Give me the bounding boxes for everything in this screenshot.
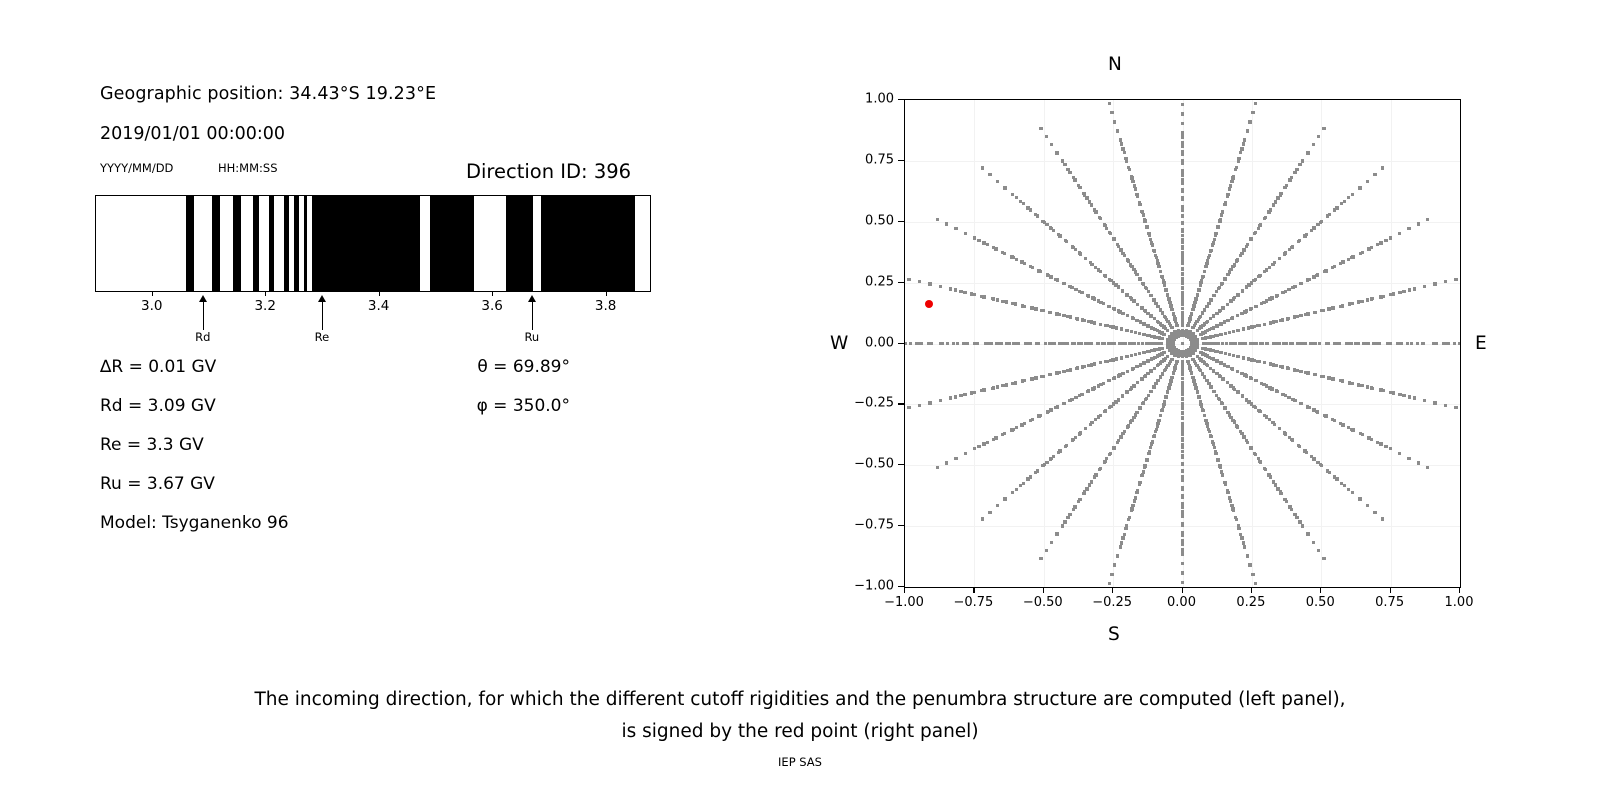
direction-point	[1212, 442, 1215, 445]
direction-point	[1247, 400, 1250, 403]
direction-point	[1181, 222, 1184, 225]
x-axis-tick-label: 0.00	[1167, 595, 1196, 610]
direction-point	[1275, 389, 1278, 392]
direction-point	[1181, 552, 1184, 555]
left-panel: Geographic position: 34.43°S 19.23°E 201…	[0, 0, 760, 660]
direction-point	[1153, 367, 1156, 370]
direction-point	[1188, 353, 1191, 356]
direction-point	[1164, 395, 1167, 398]
direction-point	[1290, 508, 1293, 511]
direction-point	[1264, 468, 1267, 471]
x-axis-tick	[1459, 587, 1460, 593]
penumbra-gap	[420, 196, 430, 291]
direction-point	[1181, 214, 1184, 217]
direction-point	[1251, 573, 1254, 576]
direction-point	[1181, 571, 1184, 574]
x-axis-tick	[1390, 587, 1391, 593]
direction-point	[1392, 292, 1395, 295]
direction-point	[1046, 273, 1049, 276]
direction-point	[1130, 419, 1133, 422]
direction-point	[1148, 450, 1151, 453]
direction-point	[1150, 442, 1153, 445]
direction-point	[991, 387, 994, 390]
direction-point	[1138, 406, 1141, 409]
horizon-point	[988, 342, 991, 345]
direction-point	[1124, 157, 1127, 160]
direction-point	[1262, 301, 1265, 304]
x-axis-tick	[1182, 587, 1183, 593]
direction-point	[1120, 327, 1123, 330]
direction-point	[1278, 257, 1281, 260]
direction-point	[1070, 398, 1073, 401]
direction-point	[1320, 464, 1323, 467]
direction-point	[1433, 401, 1436, 404]
penumbra-band	[212, 196, 220, 291]
direction-point	[1361, 300, 1364, 303]
y-axis-tick-label: −1.00	[854, 579, 894, 594]
direction-point	[1240, 252, 1243, 255]
param-re: Re = 3.3 GV	[100, 435, 204, 455]
direction-point	[1126, 370, 1129, 373]
direction-point	[1109, 279, 1112, 282]
direction-point	[1130, 265, 1133, 268]
direction-point	[963, 393, 966, 396]
horizon-point	[1060, 342, 1063, 345]
direction-point	[1021, 304, 1024, 307]
direction-point	[1181, 411, 1184, 414]
param-phi: φ = 350.0°	[477, 396, 570, 416]
direction-point	[1417, 222, 1420, 225]
direction-point	[1407, 227, 1410, 230]
direction-point	[1110, 111, 1113, 114]
direction-point	[1361, 251, 1364, 254]
rigidity-tick	[492, 292, 493, 296]
rigidity-marker-label: Ru	[524, 330, 539, 344]
direction-point	[996, 504, 999, 507]
direction-point	[1156, 320, 1159, 323]
direction-point	[1181, 424, 1184, 427]
direction-point	[1098, 468, 1101, 471]
direction-point	[928, 401, 931, 404]
direction-point	[1146, 359, 1149, 362]
direction-point	[1350, 302, 1353, 305]
direction-point	[1029, 342, 1032, 345]
direction-point	[1030, 377, 1033, 380]
y-axis-tick	[898, 525, 904, 526]
direction-point	[1205, 422, 1208, 425]
direction-point	[1108, 379, 1111, 382]
direction-point	[1103, 460, 1106, 463]
direction-point	[1197, 395, 1200, 398]
direction-point	[1276, 196, 1279, 199]
direction-point	[1041, 220, 1044, 223]
direction-point	[1248, 120, 1251, 123]
rigidity-tick	[265, 292, 266, 296]
direction-point	[1181, 431, 1184, 434]
compass-label-west: W	[830, 333, 848, 354]
penumbra-band	[233, 196, 241, 291]
direction-point	[1299, 402, 1302, 405]
direction-point	[1082, 192, 1085, 195]
direction-point	[1291, 245, 1294, 248]
direction-point	[1185, 355, 1188, 358]
direction-point	[1291, 398, 1294, 401]
direction-point	[1312, 226, 1315, 229]
direction-point	[1108, 582, 1111, 585]
direction-point	[970, 292, 973, 295]
direction-point	[945, 222, 948, 225]
direction-point	[1114, 400, 1117, 403]
direction-point	[1121, 312, 1124, 315]
direction-point	[1015, 258, 1018, 261]
direction-point	[1203, 270, 1206, 273]
x-axis-tick-label: −1.00	[884, 595, 924, 610]
horizon-point	[1374, 342, 1377, 345]
direction-point	[1161, 275, 1164, 278]
direction-point	[1243, 310, 1246, 313]
direction-point	[1146, 324, 1149, 327]
y-axis-tick-label: −0.50	[854, 457, 894, 472]
direction-point	[1408, 288, 1411, 291]
direction-point	[1133, 184, 1136, 187]
direction-point	[973, 293, 976, 296]
direction-point	[919, 342, 922, 345]
direction-point	[1229, 500, 1232, 503]
direction-point	[1181, 286, 1184, 289]
direction-point	[1343, 484, 1346, 487]
direction-point	[1381, 517, 1384, 520]
direction-point	[1136, 303, 1139, 306]
direction-point	[1298, 239, 1301, 242]
direction-point	[1220, 282, 1223, 285]
direction-point	[1108, 102, 1111, 105]
direction-point	[1127, 166, 1130, 169]
horizon-point	[1229, 342, 1232, 345]
direction-point	[1210, 298, 1213, 301]
direction-point	[1252, 405, 1255, 408]
direction-point	[1389, 236, 1392, 239]
direction-point	[981, 517, 984, 520]
direction-point	[1256, 360, 1259, 363]
direction-point	[1301, 159, 1304, 162]
direction-point	[1392, 391, 1395, 394]
direction-point	[1020, 424, 1023, 427]
direction-point	[1177, 355, 1180, 358]
direction-point	[1291, 286, 1294, 289]
direction-point	[1034, 376, 1037, 379]
horizon-point	[1241, 342, 1244, 345]
direction-point	[1118, 310, 1121, 313]
direction-point	[1156, 422, 1159, 425]
direction-point	[1159, 270, 1162, 273]
direction-point	[1145, 397, 1148, 400]
direction-point	[1342, 260, 1345, 263]
horizon-point	[1181, 342, 1184, 345]
direction-point	[1298, 163, 1301, 166]
direction-point	[1264, 216, 1267, 219]
direction-point	[1232, 509, 1235, 512]
direction-point	[1199, 403, 1202, 406]
direction-point	[1309, 342, 1312, 345]
direction-point	[1333, 265, 1336, 268]
direction-point	[1423, 399, 1426, 402]
direction-point	[1011, 302, 1014, 305]
direction-point	[1149, 294, 1152, 297]
direction-point	[1257, 409, 1260, 412]
direction-point	[1298, 445, 1301, 448]
direction-point	[1252, 279, 1255, 282]
direction-point	[1130, 386, 1133, 389]
direction-point	[1078, 290, 1081, 293]
penumbra-band	[294, 196, 299, 291]
horizon-point	[1289, 342, 1292, 345]
direction-point	[1066, 168, 1069, 171]
direction-point	[988, 173, 991, 176]
direction-point	[1194, 386, 1197, 389]
direction-point	[1237, 329, 1240, 332]
direction-point	[1232, 330, 1235, 333]
direction-point	[1084, 257, 1087, 260]
direction-point	[949, 287, 952, 290]
direction-point	[1062, 314, 1065, 317]
direction-point	[1221, 210, 1224, 213]
y-axis-tick	[898, 160, 904, 161]
direction-point	[1263, 323, 1266, 326]
direction-point	[1226, 303, 1229, 306]
horizon-point	[1314, 342, 1317, 345]
direction-point	[1284, 290, 1287, 293]
direction-point	[1181, 450, 1184, 453]
direction-point	[1181, 144, 1184, 147]
direction-point	[1084, 427, 1087, 430]
direction-point	[1064, 239, 1067, 242]
direction-point	[1029, 419, 1032, 422]
direction-point	[1335, 206, 1338, 209]
param-model: Model: Tsyganenko 96	[100, 513, 289, 533]
horizon-point	[1265, 342, 1268, 345]
direction-point	[1284, 394, 1287, 397]
direction-point	[1213, 446, 1216, 449]
direction-point	[1299, 314, 1302, 317]
direction-point	[1316, 273, 1319, 276]
direction-point	[1223, 406, 1226, 409]
direction-point	[1116, 129, 1119, 132]
direction-point	[918, 404, 921, 407]
direction-point	[1172, 312, 1175, 315]
direction-point	[1222, 306, 1225, 309]
direction-point	[1293, 171, 1296, 174]
direction-point	[1139, 363, 1142, 366]
direction-point	[1235, 424, 1238, 427]
direction-point	[1191, 308, 1194, 311]
direction-point	[1342, 424, 1345, 427]
direction-point	[1232, 354, 1235, 357]
direction-point	[1155, 428, 1158, 431]
direction-point	[1090, 421, 1093, 424]
direction-point	[1125, 329, 1128, 332]
direction-point	[1153, 434, 1156, 437]
direction-point	[1274, 200, 1277, 203]
direction-point	[1190, 312, 1193, 315]
direction-point	[1015, 196, 1018, 199]
direction-point	[1371, 387, 1374, 390]
direction-point	[1115, 326, 1118, 329]
direction-point	[1113, 563, 1116, 566]
direction-point	[1207, 428, 1210, 431]
direction-point	[956, 342, 959, 345]
horizon-point	[1036, 342, 1039, 345]
direction-point	[1140, 210, 1143, 213]
y-axis-tick	[898, 343, 904, 344]
direction-point	[1040, 309, 1043, 312]
direction-point	[1152, 386, 1155, 389]
arrow-up-icon	[318, 295, 326, 302]
direction-point	[1307, 278, 1310, 281]
direction-point	[1224, 332, 1227, 335]
arrow-shaft	[532, 300, 533, 330]
direction-point	[1034, 213, 1037, 216]
direction-point	[1379, 442, 1382, 445]
direction-point	[1249, 446, 1252, 449]
direction-point	[1181, 581, 1184, 584]
direction-point	[954, 288, 957, 291]
direction-point	[1259, 342, 1262, 345]
direction-point	[1055, 278, 1058, 281]
direction-point	[1181, 505, 1184, 508]
direction-point	[1066, 369, 1069, 372]
direction-point	[1301, 524, 1304, 527]
penumbra-chart	[95, 195, 651, 292]
direction-point	[1304, 371, 1307, 374]
figure-caption: The incoming direction, for which the di…	[0, 684, 1600, 748]
direction-point	[1192, 304, 1195, 307]
direction-point	[1287, 396, 1290, 399]
direction-point	[1287, 288, 1290, 291]
direction-point	[1398, 232, 1401, 235]
direction-point	[1295, 516, 1298, 519]
date-format-hint: YYYY/MM/DD	[100, 161, 173, 175]
direction-point	[1373, 511, 1376, 514]
x-axis-tick-label: 0.25	[1236, 595, 1265, 610]
y-axis-tick	[898, 464, 904, 465]
direction-point	[986, 441, 989, 444]
direction-point	[1290, 176, 1293, 179]
direction-point	[1115, 357, 1118, 360]
param-delta-r: ∆R = 0.01 GV	[100, 357, 216, 377]
direction-point	[970, 391, 973, 394]
direction-point	[1398, 291, 1401, 294]
direction-point	[1149, 314, 1152, 317]
direction-point	[1275, 294, 1278, 297]
horizon-point	[1193, 342, 1196, 345]
time-format-hint: HH:MM:SS	[218, 161, 278, 175]
direction-point	[1402, 394, 1405, 397]
direction-point	[1317, 135, 1320, 138]
x-axis-tick-label: −0.50	[1023, 595, 1063, 610]
direction-point	[982, 442, 985, 445]
direction-point	[1181, 209, 1184, 212]
direction-point	[1250, 325, 1253, 328]
y-axis-tick-label: 0.50	[865, 213, 894, 228]
direction-point	[1181, 524, 1184, 527]
direction-point	[1317, 549, 1320, 552]
x-axis-tick	[1320, 587, 1321, 593]
horizon-point	[1362, 342, 1365, 345]
direction-point	[1005, 383, 1008, 386]
direction-point	[1231, 265, 1234, 268]
horizon-point	[1398, 342, 1401, 345]
direction-point	[1131, 316, 1134, 319]
direction-point	[1324, 414, 1327, 417]
direction-point	[1131, 180, 1134, 183]
direction-point	[1251, 111, 1254, 114]
direction-point	[980, 389, 983, 392]
direction-point	[1087, 294, 1090, 297]
direction-point	[1181, 437, 1184, 440]
direction-point	[1167, 386, 1170, 389]
direction-point	[1235, 259, 1238, 262]
direction-point	[1099, 383, 1102, 386]
direction-point	[1324, 269, 1327, 272]
direction-point	[1207, 302, 1210, 305]
direction-point	[936, 466, 939, 469]
direction-point	[1150, 241, 1153, 244]
horizon-point	[1084, 342, 1087, 345]
direction-point	[1138, 277, 1141, 280]
direction-point	[1254, 582, 1257, 585]
direction-point	[1181, 135, 1184, 138]
direction-point	[1279, 192, 1282, 195]
horizon-point	[1446, 342, 1449, 345]
direction-point	[1181, 405, 1184, 408]
direction-point	[1138, 352, 1141, 355]
direction-point	[1099, 361, 1102, 364]
direction-point	[1181, 470, 1184, 473]
direction-point	[1144, 374, 1147, 377]
penumbra-band	[269, 196, 274, 291]
direction-point	[1242, 142, 1245, 145]
param-rd: Rd = 3.09 GV	[100, 396, 216, 416]
direction-point	[1271, 263, 1274, 266]
direction-point	[1181, 230, 1184, 233]
param-ru: Ru = 3.67 GV	[100, 474, 215, 494]
direction-point	[1142, 351, 1145, 354]
direction-point	[1150, 357, 1153, 360]
direction-point	[1099, 323, 1102, 326]
direction-point	[1295, 168, 1298, 171]
direction-point	[1212, 390, 1215, 393]
direction-point	[964, 452, 967, 455]
direction-point	[1130, 354, 1133, 357]
direction-point	[1150, 326, 1153, 329]
direction-point	[1021, 379, 1024, 382]
direction-point	[977, 239, 980, 242]
direction-point	[1231, 367, 1234, 370]
direction-point	[1199, 315, 1202, 318]
y-axis-tick-label: 1.00	[865, 92, 894, 107]
direction-point	[991, 297, 994, 300]
direction-point	[1005, 342, 1008, 345]
direction-point	[1062, 402, 1065, 405]
direction-point	[996, 385, 999, 388]
direction-point	[1070, 286, 1073, 289]
direction-point	[1219, 465, 1222, 468]
direction-point	[1093, 208, 1096, 211]
direction-point	[1072, 508, 1075, 511]
direction-point	[1381, 389, 1384, 392]
direction-point	[1249, 376, 1252, 379]
direction-point	[1203, 414, 1206, 417]
